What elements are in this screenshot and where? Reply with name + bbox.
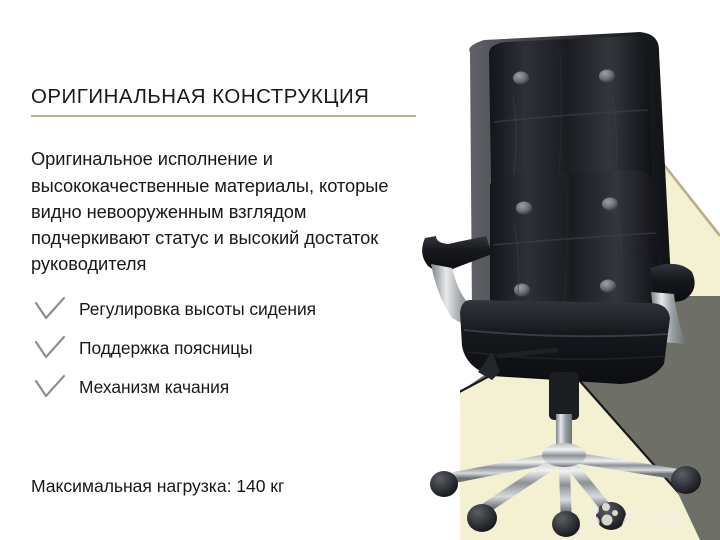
check-icon [33, 335, 67, 363]
check-icon [33, 374, 67, 402]
feature-label: Поддержка поясницы [79, 340, 253, 357]
list-item: Регулировка высоты сидения [33, 290, 433, 329]
page-title: ОРИГИНАЛЬНАЯ КОНСТРУКЦИЯ [31, 87, 431, 108]
list-item: Механизм качания [33, 368, 433, 407]
max-load-text: Максимальная нагрузка: 140 кг [31, 476, 284, 497]
list-item: Поддержка поясницы [33, 329, 433, 368]
lead-paragraph: Оригинальное исполнение и высококачестве… [31, 146, 423, 277]
feature-list: Регулировка высоты сидения Поддержка поя… [33, 290, 433, 407]
check-icon [33, 296, 67, 324]
text-panel: ОРИГИНАЛЬНАЯ КОНСТРУКЦИЯ Оригинальное ис… [0, 0, 450, 540]
feature-label: Механизм качания [79, 379, 229, 396]
title-divider [31, 115, 416, 117]
feature-label: Регулировка высоты сидения [79, 301, 316, 318]
product-card: ОРИГИНАЛЬНАЯ КОНСТРУКЦИЯ Оригинальное ис… [0, 0, 720, 540]
